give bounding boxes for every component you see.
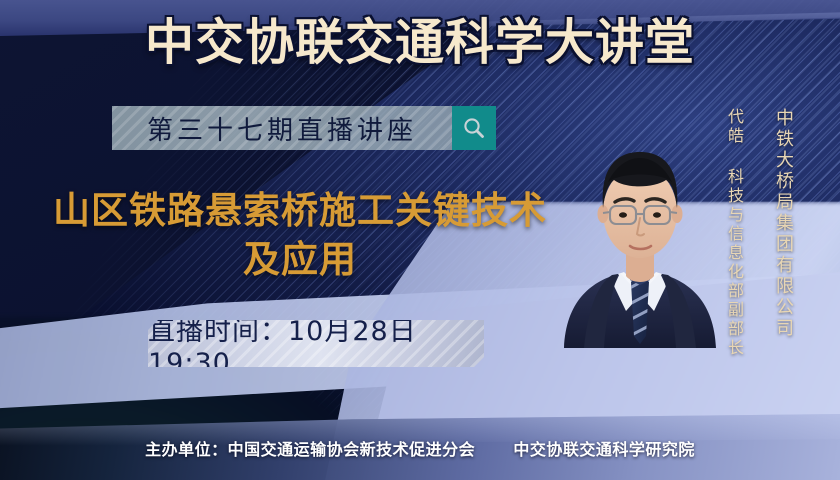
search-icon[interactable] <box>452 106 496 150</box>
speaker-portrait <box>556 96 724 348</box>
lecture-title-line1: 山区铁路悬索桥施工关键技术 <box>36 186 564 235</box>
organizer-secondary: 中交协联交通科学研究院 <box>513 440 695 459</box>
speaker-organization: 中铁大桥局集团有限公司 <box>770 108 796 339</box>
broadcast-time-label: 直播时间：10月28日19:30 <box>148 320 484 367</box>
organizer-credits: 主办单位：中国交通运输协会新技术促进分会 中交协联交通科学研究院 <box>0 436 840 460</box>
episode-banner: 第三十七期直播讲座 <box>112 106 452 150</box>
lecture-title-line2: 及应用 <box>36 235 564 284</box>
broadcast-time-badge: 直播时间：10月28日19:30 <box>148 320 484 367</box>
lecture-title: 山区铁路悬索桥施工关键技术 及应用 <box>36 186 564 284</box>
episode-label: 第三十七期直播讲座 <box>147 110 417 147</box>
speaker-name-title: 代皓 科技与信息化部副部长 <box>722 108 746 358</box>
organizer-primary: 主办单位：中国交通运输协会新技术促进分会 <box>145 440 475 459</box>
page-title: 中交协联交通科学大讲堂 <box>0 14 840 72</box>
webinar-poster: 中交协联交通科学大讲堂 第三十七期直播讲座 山区铁路悬索桥施工关键技术 及应用 … <box>0 0 840 480</box>
